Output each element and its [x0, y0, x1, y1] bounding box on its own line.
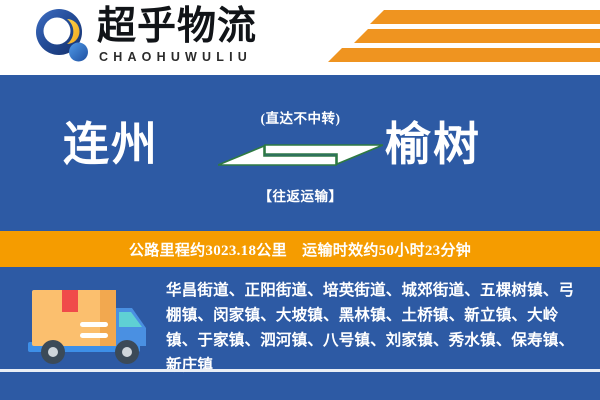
orange-speed-stripes-icon	[280, 0, 600, 75]
header: 超乎物流 CHAOHUWULIU	[0, 0, 600, 75]
brand-name-cn: 超乎物流	[97, 5, 257, 49]
info-bar: 公路里程约3023.18公里 运输时效约50小时23分钟	[0, 229, 600, 269]
route-panel: 连州 (直达不中转) 【往返运输】 榆树	[0, 75, 600, 229]
route-middle: (直达不中转) 【往返运输】	[218, 105, 383, 210]
circular-q-logo-icon	[33, 8, 93, 66]
route-note-bottom: 【往返运输】	[218, 185, 383, 205]
delivery-truck-icon	[22, 282, 150, 374]
brand-name-en: CHAOHUWULIU	[99, 50, 252, 64]
bottom-divider	[0, 369, 600, 372]
route-note-top: (直达不中转)	[218, 107, 383, 127]
origin-city: 连州	[63, 117, 159, 173]
info-bar-text: 公路里程约3023.18公里 运输时效约50小时23分钟	[129, 239, 471, 260]
bidirectional-arrow-icon	[218, 132, 383, 178]
logistics-route-banner: 超乎物流 CHAOHUWULIU 连州 (直达不中转) 【往返运	[0, 0, 600, 400]
coverage-panel: 华昌街道、正阳街道、培英街道、城郊街道、五棵树镇、弓棚镇、闵家镇、大坡镇、黑林镇…	[0, 269, 600, 400]
coverage-areas-text: 华昌街道、正阳街道、培英街道、城郊街道、五棵树镇、弓棚镇、闵家镇、大坡镇、黑林镇…	[166, 278, 584, 378]
destination-city: 榆树	[385, 117, 481, 173]
